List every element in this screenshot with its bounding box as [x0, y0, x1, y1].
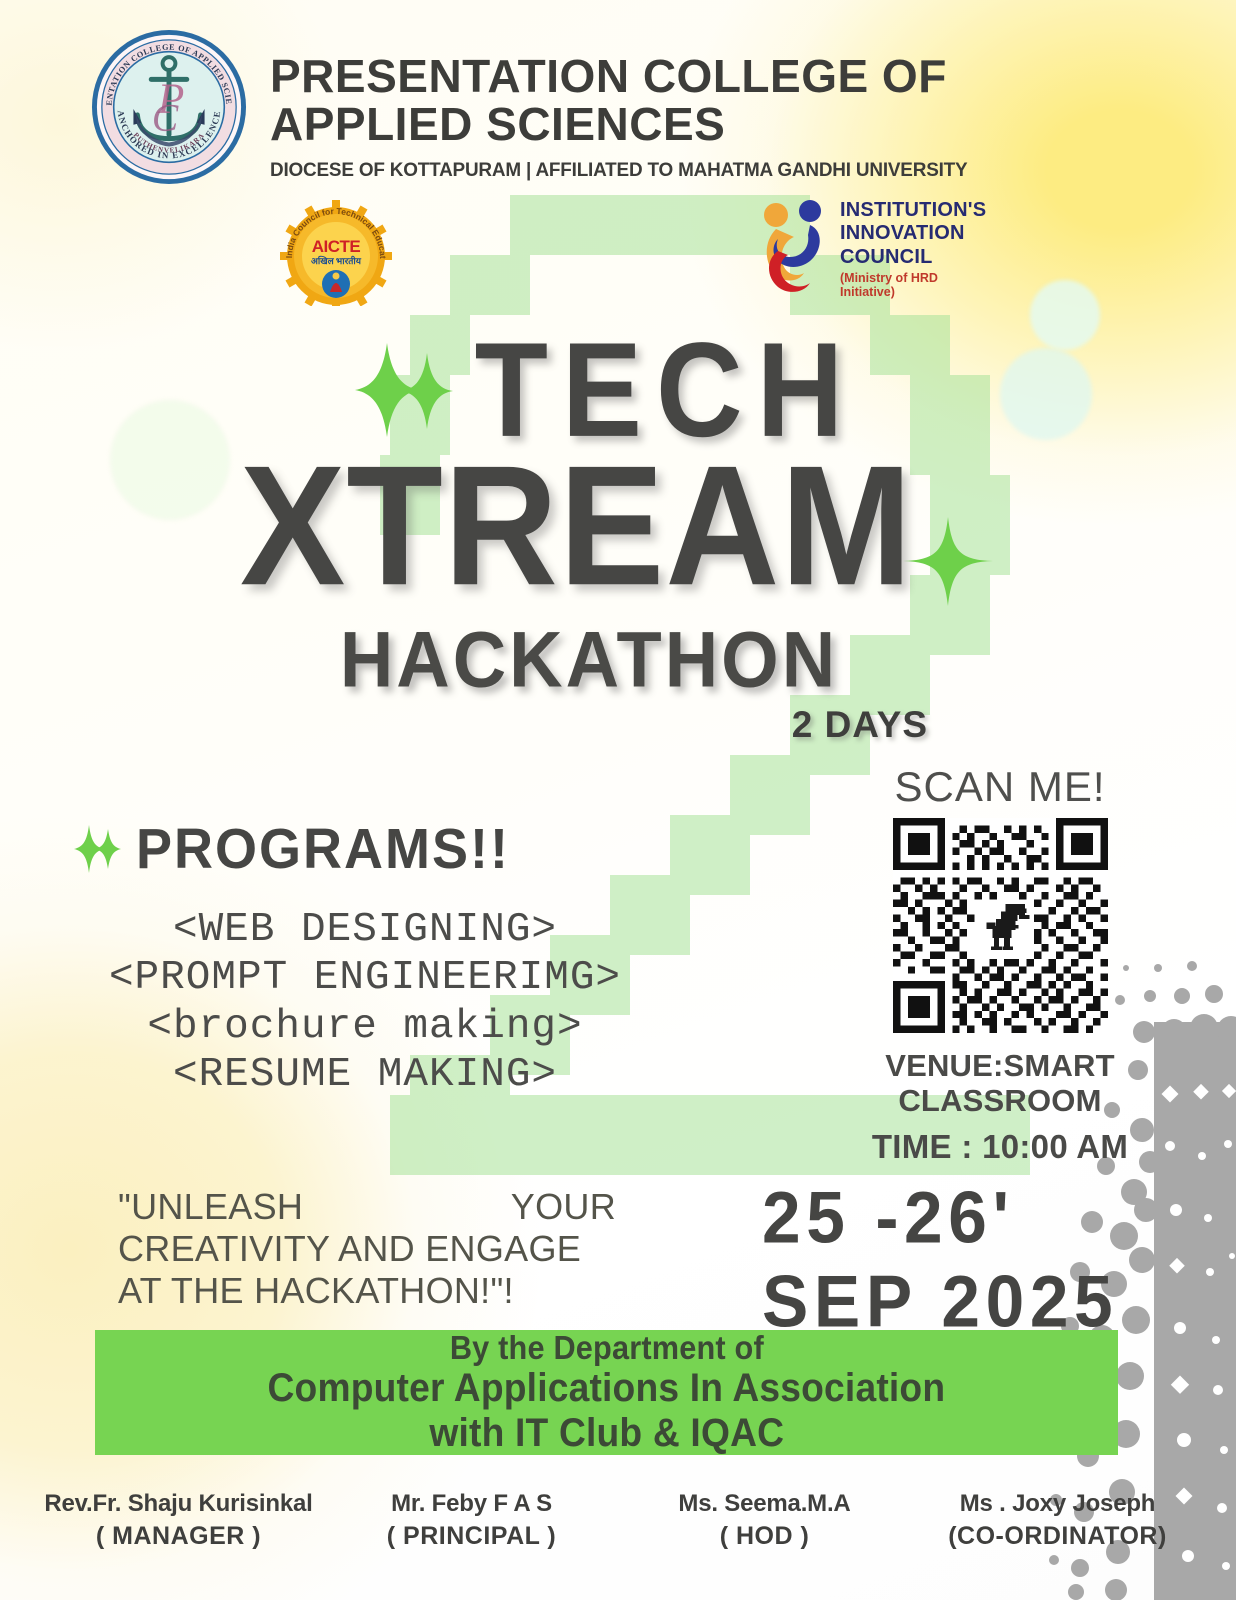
date-line-1: 25 -26': [762, 1180, 1210, 1258]
college-name-line-2: APPLIED SCIENCES: [270, 100, 989, 148]
person-role: ( HOD ): [618, 1522, 911, 1551]
person-entry: Mr. Feby F A S ( PRINCIPAL ): [325, 1490, 618, 1551]
person-entry: Ms. Seema.M.A ( HOD ): [618, 1490, 911, 1551]
program-item: <WEB DESIGNING>: [70, 906, 660, 954]
person-entry: Ms . Joxy Joseph (CO-ORDINATOR): [911, 1490, 1204, 1551]
title-hackathon: HACKATHON: [340, 614, 838, 704]
college-affiliation: DIOCESE OF KOTTAPURAM | AFFILIATED TO MA…: [270, 159, 967, 182]
iic-figure-icon: [758, 199, 832, 299]
program-item: <RESUME MAKING>: [70, 1051, 660, 1099]
person-role: ( PRINCIPAL ): [325, 1522, 618, 1551]
footer-people: Rev.Fr. Shaju Kurisinkal ( MANAGER ) Mr.…: [0, 1490, 1236, 1551]
banner-line-2: Computer Applications In Association: [268, 1366, 946, 1411]
poster-canvas: PRESENTATION COLLEGE OF APPLIED SCIENCES…: [0, 0, 1236, 1600]
iic-line-1: INSTITUTION'S: [840, 199, 996, 223]
iic-logo: INSTITUTION'S INNOVATION COUNCIL (Minist…: [758, 196, 996, 302]
iic-text-block: INSTITUTION'S INNOVATION COUNCIL (Minist…: [840, 199, 996, 300]
venue-line-1: VENUE:SMART: [862, 1049, 1138, 1084]
person-name: Rev.Fr. Shaju Kurisinkal: [32, 1490, 325, 1518]
event-time: TIME : 10:00 AM: [862, 1128, 1138, 1166]
quote-line-3: AT THE HACKATHON!"!: [118, 1270, 658, 1312]
svg-text:अखिल भारतीय: अखिल भारतीय: [311, 255, 362, 266]
person-name: Ms . Joxy Joseph: [911, 1490, 1204, 1518]
person-role: ( MANAGER ): [32, 1522, 325, 1551]
sparkle-icon: [901, 514, 996, 609]
person-entry: Rev.Fr. Shaju Kurisinkal ( MANAGER ): [32, 1490, 325, 1551]
program-item: <brochure making>: [70, 1003, 660, 1051]
title-xtream: XTREAM: [240, 439, 913, 613]
iic-ministry-note: (Ministry of HRD Initiative): [840, 271, 996, 299]
person-role: (CO-ORDINATOR): [911, 1522, 1204, 1551]
organizer-banner: By the Department of Computer Applicatio…: [95, 1330, 1118, 1455]
xtream-row: XTREAM: [0, 444, 1236, 609]
quote-line-2: CREATIVITY AND ENGAGE: [118, 1228, 658, 1270]
svg-text:AICTE: AICTE: [312, 237, 361, 256]
college-name-line-1: PRESENTATION COLLEGE OF: [270, 52, 989, 100]
programs-heading-row: PROGRAMS!!: [70, 818, 690, 880]
iic-line-2: INNOVATION: [840, 222, 996, 246]
qr-section: SCAN ME!: [862, 766, 1138, 1166]
aicte-logo: All India Council for Technical Educatio…: [276, 196, 396, 302]
poster-header: PRESENTATION COLLEGE OF APPLIED SCIENCES…: [0, 0, 1236, 186]
quote-line-1-left: "UNLEASH: [118, 1186, 303, 1228]
person-name: Mr. Feby F A S: [325, 1490, 618, 1518]
title-days: 2 DAYS: [792, 704, 928, 746]
svg-text:C: C: [152, 96, 179, 140]
days-row: 2 DAYS: [0, 704, 1236, 746]
qr-code[interactable]: [893, 818, 1108, 1033]
quote-line-1-right: YOUR: [511, 1186, 616, 1228]
program-item: <PROMPT ENGINEERIMG>: [70, 954, 660, 1002]
person-name: Ms. Seema.M.A: [618, 1490, 911, 1518]
tagline-quote: "UNLEASH YOUR CREATIVITY AND ENGAGE AT T…: [118, 1186, 658, 1312]
venue-line-2: CLASSROOM: [862, 1084, 1138, 1119]
iic-line-3: COUNCIL: [840, 246, 996, 270]
hackathon-row: HACKATHON: [0, 617, 1236, 702]
quote-line-1: "UNLEASH YOUR: [118, 1186, 616, 1228]
programs-title: PROGRAMS!!: [136, 816, 510, 881]
college-seal-logo: PRESENTATION COLLEGE OF APPLIED SCIENCES…: [90, 28, 248, 186]
banner-line-3: with IT Club & IQAC: [429, 1411, 784, 1456]
event-date: 25 -26' SEP 2025: [762, 1180, 1162, 1329]
sparkle-icon: [70, 823, 126, 875]
scan-me-label: SCAN ME!: [862, 766, 1138, 808]
programs-list: <WEB DESIGNING> <PROMPT ENGINEERIMG> <br…: [70, 906, 690, 1100]
event-title-block: TECH XTREAM HACKATHON 2 DAYS: [0, 330, 1236, 746]
sparkle-icon: [349, 335, 469, 445]
college-title-block: PRESENTATION COLLEGE OF APPLIED SCIENCES…: [270, 28, 989, 182]
venue-info: VENUE:SMART CLASSROOM TIME : 10:00 AM: [862, 1049, 1138, 1166]
programs-section: PROGRAMS!! <WEB DESIGNING> <PROMPT ENGIN…: [70, 818, 690, 1100]
banner-line-1: By the Department of: [449, 1329, 763, 1366]
